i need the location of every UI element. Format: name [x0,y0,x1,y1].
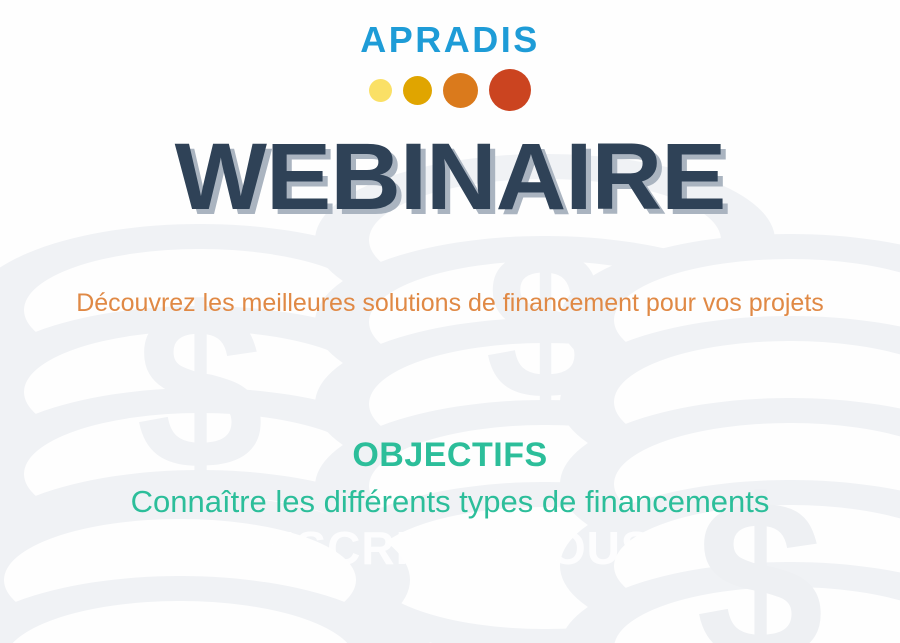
logo-dot-row [0,69,900,111]
logo-dot-gold-icon [403,76,432,105]
objectives-block: OBJECTIFS Connaître les différents types… [20,436,880,520]
cta-watermark-label: INSCRIVEZ-VOUS [0,524,900,572]
title-block: WEBINAIRE [0,128,900,228]
svg-text:$: $ [485,203,605,444]
subtitle-text: Découvrez les meilleures solutions de fi… [50,287,850,321]
logo-dot-red-orange-icon [489,69,531,111]
logo-dot-orange-icon [443,73,478,108]
objectives-heading: OBJECTIFS [20,436,880,475]
webinar-slide: $ $ $ INSCRIVEZ-VOUS APRADIS WEBINAIRE [0,0,900,643]
logo-wordmark-text: APRADIS [0,22,900,58]
subtitle-block: Découvrez les meilleures solutions de fi… [50,287,850,321]
cta-watermark: INSCRIVEZ-VOUS [0,524,900,572]
page-title: WEBINAIRE [0,128,900,228]
objectives-text: Connaître les différents types de financ… [20,483,880,520]
apradis-logo: APRADIS [0,22,900,111]
logo-dot-pale-yellow-icon [369,79,392,102]
